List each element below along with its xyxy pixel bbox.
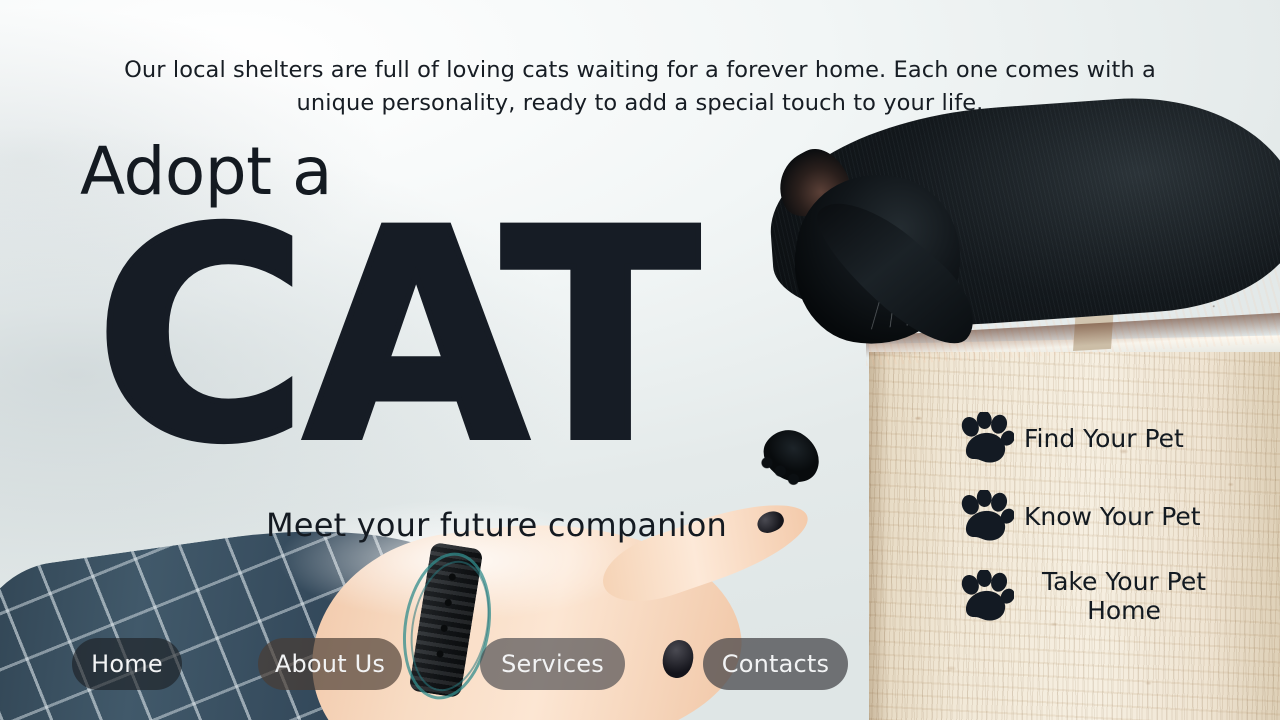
paw-print-icon — [958, 412, 1014, 466]
nav-item-about-us[interactable]: About Us — [258, 638, 402, 690]
headline-cat: CAT — [95, 200, 696, 476]
feature-item-know-your-pet[interactable]: Know Your Pet — [958, 490, 1258, 544]
feature-item-label: Take Your Pet Home — [1024, 568, 1224, 626]
feature-item-label: Find Your Pet — [1024, 425, 1184, 454]
hero-subtitle: Meet your future companion — [266, 506, 727, 544]
nav-item-home[interactable]: Home — [72, 638, 182, 690]
feature-item-find-your-pet[interactable]: Find Your Pet — [958, 412, 1258, 466]
nav-item-label: Home — [91, 650, 163, 678]
nav-item-label: Contacts — [722, 650, 829, 678]
paw-print-icon — [958, 570, 1014, 624]
intro-paragraph: Our local shelters are full of loving ca… — [88, 54, 1192, 119]
nav-item-label: About Us — [275, 650, 385, 678]
feature-item-take-your-pet-home[interactable]: Take Your Pet Home — [958, 568, 1258, 626]
headline-eyebrow: Adopt a — [80, 139, 332, 205]
feature-list: Find Your Pet Know Your Pet Take Your Pe… — [958, 412, 1258, 650]
paw-print-icon — [958, 490, 1014, 544]
hero-slide: CAT Our local shelters are full of lovin… — [0, 0, 1280, 720]
nav-item-services[interactable]: Services — [480, 638, 625, 690]
main-navigation: Home About Us Services Contacts — [0, 638, 880, 690]
nav-item-label: Services — [501, 650, 604, 678]
nav-item-contacts[interactable]: Contacts — [703, 638, 848, 690]
feature-item-label: Know Your Pet — [1024, 503, 1201, 532]
